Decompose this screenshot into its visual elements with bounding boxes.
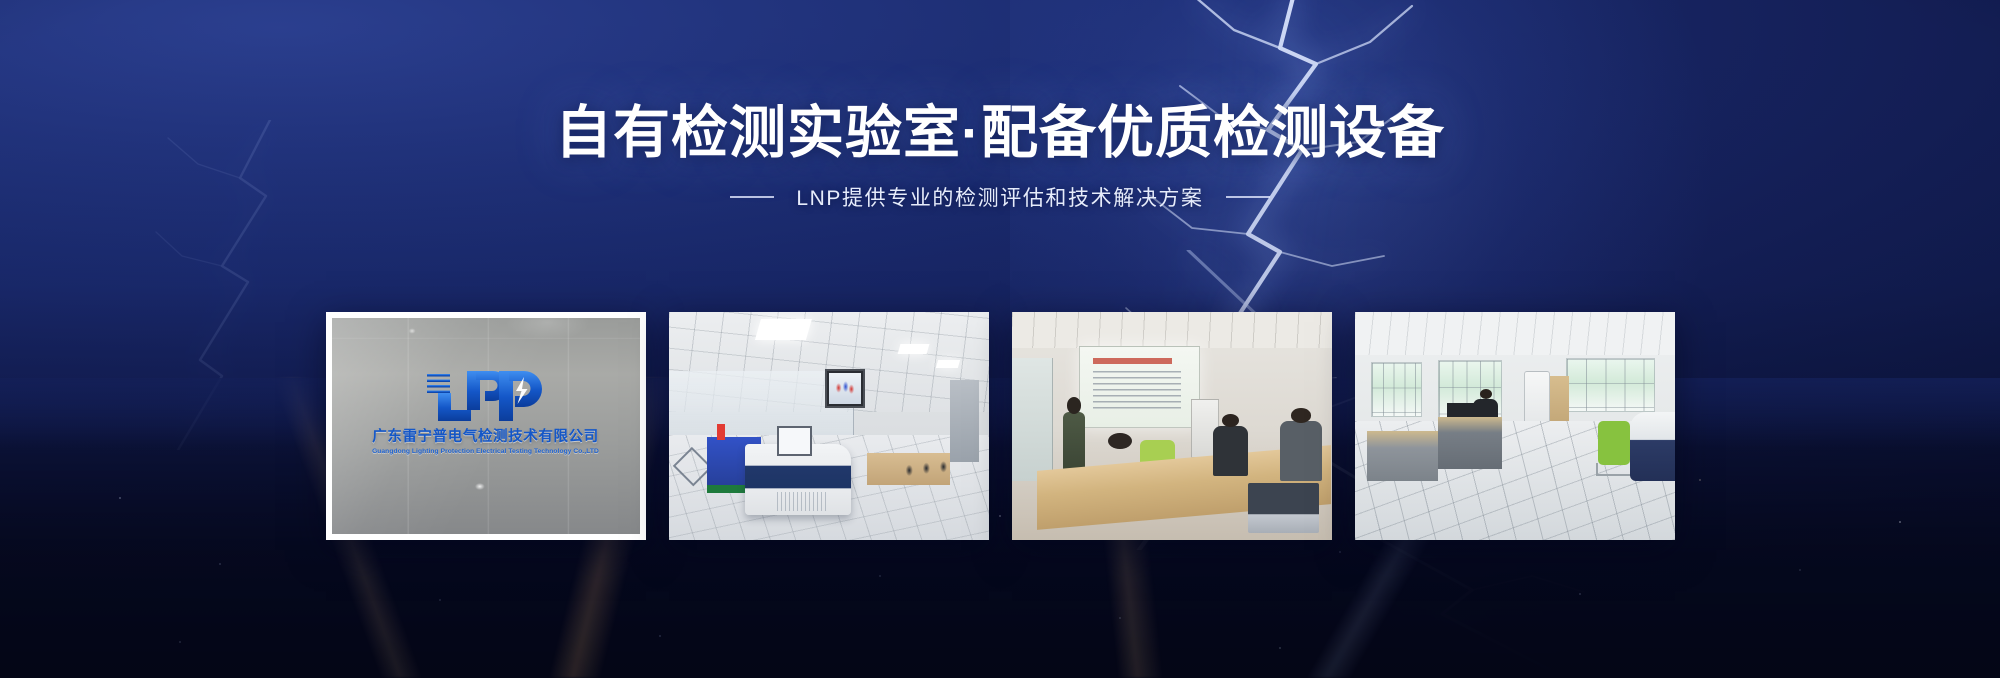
- attendee-person: [1280, 421, 1322, 480]
- photo-testing-laboratory: [669, 312, 989, 540]
- lab-doorway: [950, 380, 979, 462]
- reception-counter: [1630, 412, 1675, 480]
- meeting-ceiling: [1012, 312, 1332, 348]
- gallery-item-testing-laboratory[interactable]: [669, 312, 989, 540]
- company-logo-block: 广东雷宁普电气检测技术有限公司 Guangdong Lighting Prote…: [332, 362, 640, 455]
- attendee-person: [1092, 447, 1150, 515]
- attendee-person: [1213, 426, 1248, 476]
- lnp-logo-icon: [424, 362, 548, 424]
- gallery-item-training-meeting-room[interactable]: [1012, 312, 1332, 540]
- hero-headline: 自有检测实验室·配备优质检测设备: [0, 104, 2000, 164]
- lab-ceiling-light: [897, 344, 929, 354]
- meeting-laptop: [1248, 483, 1318, 533]
- office-desk: [1438, 417, 1502, 469]
- rule-right-decoration: [1226, 196, 1270, 198]
- rule-left-decoration: [730, 196, 774, 198]
- office-window: [1566, 358, 1656, 413]
- lab-ceiling-light: [936, 360, 961, 368]
- hero-copy: 自有检测实验室·配备优质检测设备 LNP提供专业的检测评估和技术解决方案: [0, 104, 2000, 212]
- lab-wall-monitor: [825, 369, 865, 408]
- lab-console-display: [777, 426, 812, 456]
- hero-subtitle: LNP提供专业的检测评估和技术解决方案: [796, 182, 1203, 212]
- hero-banner: 自有检测实验室·配备优质检测设备 LNP提供专业的检测评估和技术解决方案: [0, 0, 2000, 678]
- projection-screen: [1079, 346, 1201, 428]
- meeting-door: [1012, 358, 1054, 481]
- photo-office-reception: [1355, 312, 1675, 540]
- office-window: [1371, 362, 1422, 417]
- photo-company-signage: 广东雷宁普电气检测技术有限公司 Guangdong Lighting Prote…: [332, 318, 640, 534]
- office-ceiling: [1355, 312, 1675, 355]
- gallery-item-office-reception[interactable]: [1355, 312, 1675, 540]
- hero-subtitle-row: LNP提供专业的检测评估和技术解决方案: [0, 182, 2000, 212]
- office-chair: [1598, 421, 1630, 464]
- office-desk: [1367, 431, 1437, 481]
- gallery-strip: 广东雷宁普电气检测技术有限公司 Guangdong Lighting Prote…: [0, 312, 2000, 540]
- gallery-item-company-signage[interactable]: 广东雷宁普电气检测技术有限公司 Guangdong Lighting Prote…: [326, 312, 646, 540]
- lab-chairs: [899, 456, 957, 492]
- photo-training-meeting-room: [1012, 312, 1332, 540]
- company-name-cn: 广东雷宁普电气检测技术有限公司: [332, 430, 640, 446]
- lab-ceiling-light: [755, 319, 812, 340]
- company-name-en: Guangdong Lighting Protection Electrical…: [332, 448, 640, 455]
